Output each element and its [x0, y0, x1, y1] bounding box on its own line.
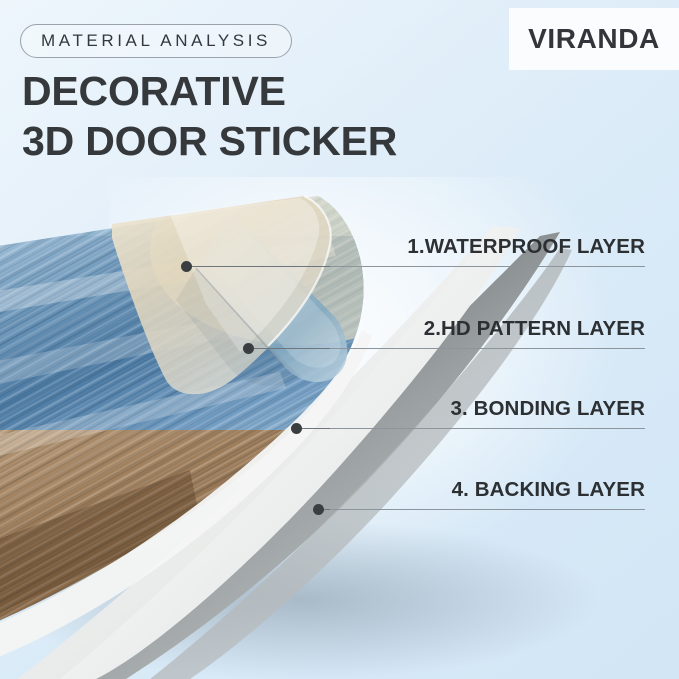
poster-canvas: MATERIAL ANALYSIS DECORATIVE 3D DOOR STI… [0, 0, 679, 679]
callout-underline [330, 509, 645, 510]
callout-dot [313, 504, 324, 515]
callout-leader-line [253, 348, 330, 349]
callout-leader-line [191, 266, 330, 267]
callout-underline [330, 428, 645, 429]
callout-leader-line [323, 509, 330, 510]
callout-label: 4. BACKING LAYER [452, 478, 645, 502]
callout-leader-line [301, 428, 330, 429]
layer-callout-list: 1.WATERPROOF LAYER2.HD PATTERN LAYER3. B… [0, 0, 679, 679]
callout-label: 3. BONDING LAYER [451, 397, 646, 421]
callout-dot [291, 423, 302, 434]
callout-label: 1.WATERPROOF LAYER [407, 235, 645, 259]
callout-label: 2.HD PATTERN LAYER [424, 317, 645, 341]
callout-dot [243, 343, 254, 354]
callout-dot [181, 261, 192, 272]
callout-underline [330, 348, 645, 349]
callout-underline [330, 266, 645, 267]
